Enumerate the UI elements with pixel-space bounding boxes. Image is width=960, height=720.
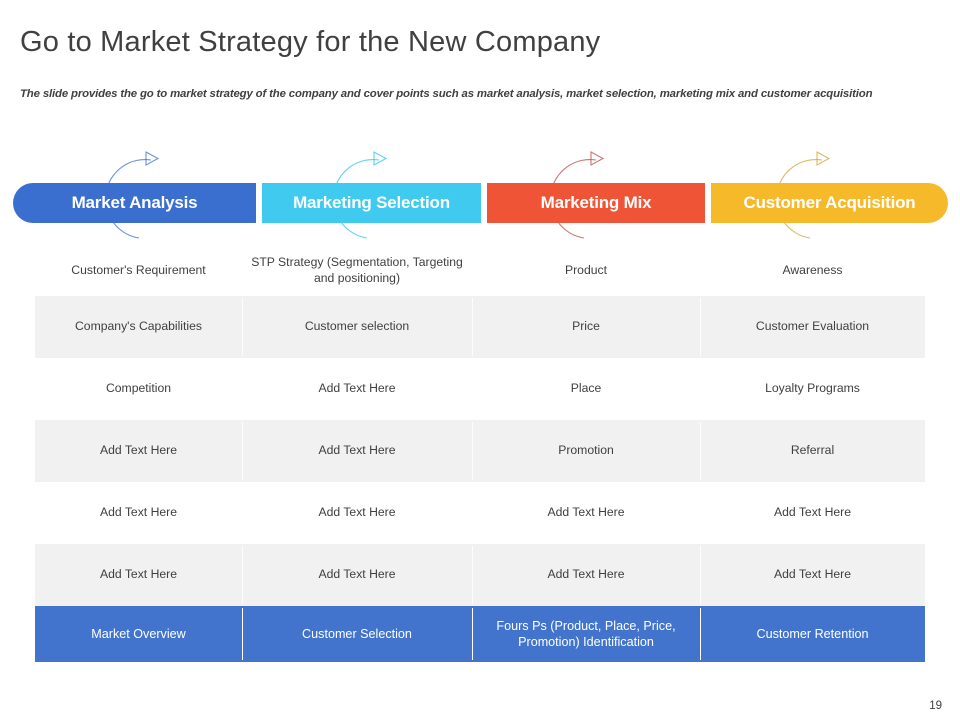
table-cell: Referral (700, 420, 925, 482)
table-cell: Add Text Here (242, 482, 472, 544)
table-cell: Add Text Here (472, 544, 700, 606)
table-cell: Add Text Here (472, 482, 700, 544)
table-row: Add Text Here Add Text Here Promotion Re… (35, 420, 925, 482)
table-cell: Promotion (472, 420, 700, 482)
stage-pill-marketing-selection[interactable]: Marketing Selection (262, 183, 481, 223)
table-cell: Company's Capabilities (35, 296, 242, 358)
page-subtitle: The slide provides the go to market stra… (20, 86, 910, 103)
stage-pill-market-analysis[interactable]: Market Analysis (13, 183, 256, 223)
table-cell: Loyalty Programs (700, 358, 925, 420)
table-cell: Add Text Here (242, 544, 472, 606)
table-cell: STP Strategy (Segmentation, Targeting an… (242, 246, 472, 296)
stage-pill-label: Customer Acquisition (744, 193, 916, 213)
table-cell: Add Text Here (35, 482, 242, 544)
strategy-banner: Market Analysis Marketing Selection Mark… (0, 140, 960, 250)
table-cell: Customer Retention (700, 606, 925, 662)
strategy-table: Customer's Requirement STP Strategy (Seg… (35, 246, 925, 662)
table-cell: Market Overview (35, 606, 242, 662)
table-row: Competition Add Text Here Place Loyalty … (35, 358, 925, 420)
table-cell: Competition (35, 358, 242, 420)
table-cell: Add Text Here (700, 544, 925, 606)
stage-pill-row: Market Analysis Marketing Selection Mark… (13, 183, 948, 223)
table-row-summary: Market Overview Customer Selection Fours… (35, 606, 925, 662)
slide-root: Go to Market Strategy for the New Compan… (0, 0, 960, 720)
table-cell: Add Text Here (35, 420, 242, 482)
table-row: Add Text Here Add Text Here Add Text Her… (35, 482, 925, 544)
table-row: Company's Capabilities Customer selectio… (35, 296, 925, 358)
table-cell: Customer Evaluation (700, 296, 925, 358)
table-cell: Add Text Here (35, 544, 242, 606)
table-cell: Customer's Requirement (35, 246, 242, 296)
stage-pill-label: Marketing Selection (293, 193, 450, 213)
page-number: 19 (929, 700, 942, 712)
table-cell: Customer selection (242, 296, 472, 358)
table-cell: Add Text Here (242, 420, 472, 482)
table-cell: Add Text Here (242, 358, 472, 420)
table-row: Customer's Requirement STP Strategy (Seg… (35, 246, 925, 296)
table-cell: Product (472, 246, 700, 296)
table-row: Add Text Here Add Text Here Add Text Her… (35, 544, 925, 606)
page-title: Go to Market Strategy for the New Compan… (20, 26, 920, 59)
table-cell: Customer Selection (242, 606, 472, 662)
stage-pill-label: Marketing Mix (541, 193, 652, 213)
table-cell: Awareness (700, 246, 925, 296)
stage-pill-customer-acquisition[interactable]: Customer Acquisition (711, 183, 948, 223)
stage-pill-label: Market Analysis (72, 193, 198, 213)
table-cell: Place (472, 358, 700, 420)
stage-pill-marketing-mix[interactable]: Marketing Mix (487, 183, 705, 223)
table-cell: Fours Ps (Product, Place, Price, Promoti… (472, 606, 700, 662)
table-cell: Price (472, 296, 700, 358)
table-cell: Add Text Here (700, 482, 925, 544)
